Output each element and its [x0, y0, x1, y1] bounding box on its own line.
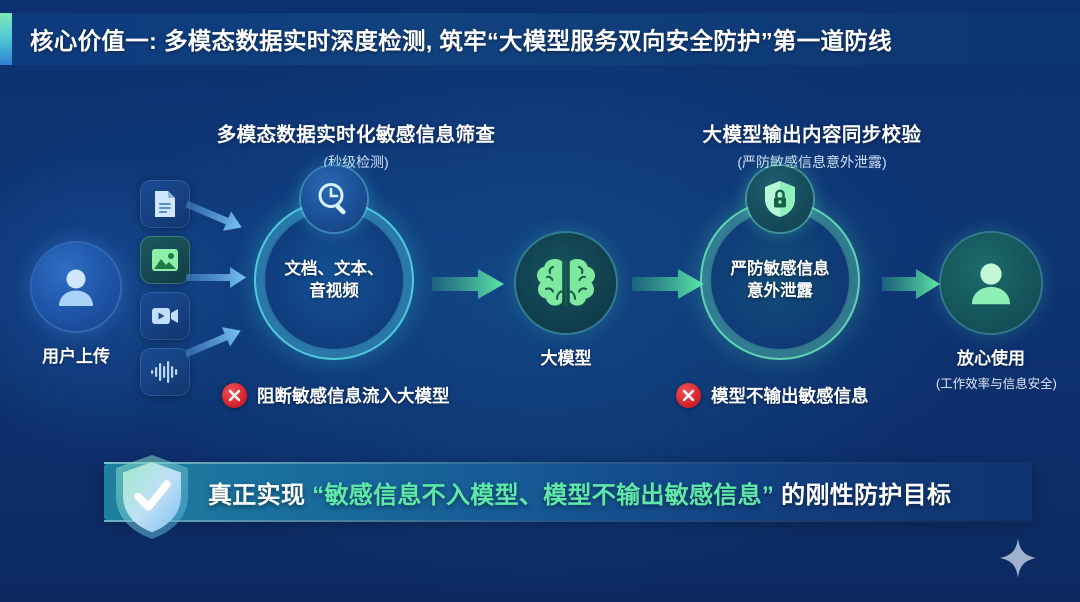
- arrow-llm-to-verify: [632, 268, 708, 302]
- flow-node-verify: 严防敏感信息 意外泄露: [700, 200, 860, 360]
- banner-suffix: 的刚性防护目标: [774, 482, 951, 509]
- shield-lock-icon: [761, 179, 799, 219]
- media-tile-video[interactable]: [140, 292, 190, 340]
- flow-node-user-upload: 用户上传: [30, 243, 122, 367]
- user-upload-avatar: [32, 243, 120, 331]
- user-upload-label: 用户上传: [30, 342, 122, 367]
- screening-ring: 文档、文本、 音视频: [254, 200, 414, 360]
- flow-node-safe-use: 放心使用 (工作效率与信息安全): [936, 233, 1046, 392]
- llm-avatar: [516, 233, 616, 333]
- banner-highlight: “敏感信息不入模型、模型不输出敏感信息”: [312, 482, 774, 509]
- screening-badge: [301, 166, 367, 232]
- flow-node-llm: 大模型: [510, 233, 622, 369]
- summary-banner: 真正实现 “敏感信息不入模型、模型不输出敏感信息” 的刚性防护目标: [104, 464, 1032, 520]
- flow-node-screening: 文档、文本、 音视频: [254, 200, 414, 360]
- media-tile-audio[interactable]: [140, 348, 190, 396]
- x-circle-icon: [676, 383, 701, 408]
- section-output-title: 大模型输出内容同步校验: [632, 118, 992, 147]
- slide-header: 核心价值一: 多模态数据实时深度检测, 筑牢“大模型服务双向安全防护”第一道防线: [0, 13, 1080, 65]
- callout-no-output-text: 模型不输出敏感信息: [711, 383, 869, 408]
- safe-use-sublabel: (工作效率与信息安全): [936, 373, 1046, 392]
- section-heading-input: 多模态数据实时化敏感信息筛查 (秒级检测): [180, 118, 532, 172]
- arrow-screening-to-llm: [432, 268, 508, 302]
- verify-text: 严防敏感信息 意外泄露: [731, 258, 830, 303]
- sparkle-icon: [1000, 538, 1036, 578]
- banner-prefix: 真正实现: [208, 482, 312, 509]
- callout-block-sensitive: 阻断敏感信息流入大模型: [222, 383, 450, 408]
- arrow-verify-to-safe: [882, 268, 942, 302]
- page-title: 核心价值一: 多模态数据实时深度检测, 筑牢“大模型服务双向安全防护”第一道防线: [12, 22, 892, 56]
- magnifier-clock-icon: [315, 180, 353, 218]
- safe-use-label: 放心使用: [936, 344, 1046, 369]
- verify-badge: [747, 166, 813, 232]
- verify-ring: 严防敏感信息 意外泄露: [700, 200, 860, 360]
- section-input-subtitle: (秒级检测): [180, 152, 532, 172]
- header-accent-bar: [0, 13, 12, 65]
- section-input-title: 多模态数据实时化敏感信息筛查: [180, 118, 532, 147]
- banner-text: 真正实现 “敏感信息不入模型、模型不输出敏感信息” 的刚性防护目标: [104, 475, 951, 510]
- banner-bottom-rule: [104, 520, 1032, 522]
- document-icon: [151, 189, 179, 219]
- video-icon: [150, 305, 180, 327]
- audio-waveform-icon: [149, 360, 181, 384]
- section-heading-output: 大模型输出内容同步校验 (严防敏感信息意外泄露): [632, 118, 992, 172]
- callout-block-text: 阻断敏感信息流入大模型: [257, 383, 450, 408]
- media-tile-image[interactable]: [140, 236, 190, 284]
- llm-label: 大模型: [510, 344, 622, 369]
- shield-check-icon: [110, 452, 194, 542]
- safe-use-avatar: [941, 233, 1041, 333]
- close-icon: [228, 389, 241, 402]
- user-icon: [963, 255, 1019, 311]
- brain-icon: [533, 253, 599, 313]
- section-output-subtitle: (严防敏感信息意外泄露): [632, 152, 992, 172]
- x-circle-icon: [222, 383, 247, 408]
- screening-text: 文档、文本、 音视频: [285, 258, 384, 303]
- callout-no-output: 模型不输出敏感信息: [676, 383, 869, 408]
- user-icon: [51, 262, 101, 312]
- slide-canvas: 核心价值一: 多模态数据实时深度检测, 筑牢“大模型服务双向安全防护”第一道防线…: [0, 0, 1080, 602]
- image-icon: [150, 247, 180, 273]
- input-arrows-group: [186, 196, 262, 366]
- close-icon: [682, 389, 695, 402]
- media-tile-document[interactable]: [140, 180, 190, 228]
